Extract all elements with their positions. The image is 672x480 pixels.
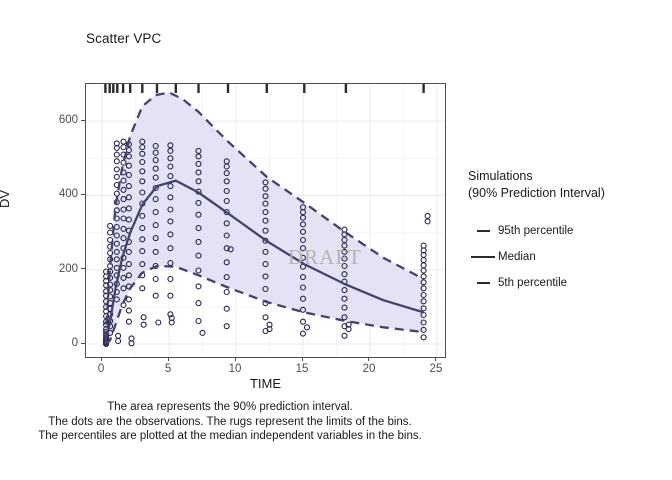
- legend-items: 95th percentileMedian5th percentile: [468, 218, 668, 296]
- page-title: Scatter VPC: [86, 31, 161, 46]
- x-tick-label: 25: [430, 363, 443, 375]
- x-tick-label: 0: [98, 363, 104, 375]
- x-tick-label: 15: [296, 363, 309, 375]
- legend-key-dash-icon: [468, 282, 498, 285]
- y-tick-mark: [81, 268, 85, 269]
- legend-title-line2: (90% Prediction Interval): [468, 185, 668, 202]
- x-axis-title: TIME: [0, 376, 531, 391]
- legend-key-solid-icon: [468, 256, 498, 259]
- x-tick-mark: [235, 357, 236, 361]
- plot-area: [86, 84, 445, 357]
- legend-item: 95th percentile: [468, 218, 668, 244]
- legend-key-dash-icon: [468, 230, 498, 233]
- caption-line-2: The dots are the observations. The rugs …: [0, 415, 460, 430]
- chart-caption: The area represents the 90% prediction i…: [0, 400, 460, 444]
- x-tick-label: 20: [363, 363, 376, 375]
- caption-line-1: The area represents the 90% prediction i…: [0, 400, 460, 415]
- y-tick-mark: [81, 343, 85, 344]
- legend-item: 5th percentile: [468, 270, 668, 296]
- legend-item: Median: [468, 244, 668, 270]
- y-tick-label: 200: [45, 263, 78, 275]
- y-axis-title: DV: [0, 190, 12, 208]
- caption-line-3: The percentiles are plotted at the media…: [0, 429, 460, 444]
- plot-panel: [85, 83, 446, 358]
- legend-item-label: Median: [498, 251, 536, 263]
- vpc-chart-page: Scatter VPC DV DRAFT 0200400600051015202…: [0, 0, 672, 480]
- legend-item-label: 95th percentile: [498, 225, 573, 237]
- legend-item-label: 5th percentile: [498, 277, 567, 289]
- x-tick-label: 5: [165, 363, 171, 375]
- legend: Simulations (90% Prediction Interval) 95…: [468, 168, 668, 296]
- legend-title: Simulations (90% Prediction Interval): [468, 168, 668, 202]
- x-tick-mark: [435, 357, 436, 361]
- x-tick-label: 10: [229, 363, 242, 375]
- chart-graphics: [86, 84, 445, 357]
- legend-title-line1: Simulations: [468, 168, 668, 185]
- y-tick-label: 0: [45, 337, 78, 349]
- y-tick-label: 600: [45, 114, 78, 126]
- x-tick-mark: [368, 357, 369, 361]
- y-tick-mark: [81, 194, 85, 195]
- y-tick-label: 400: [45, 188, 78, 200]
- x-tick-mark: [302, 357, 303, 361]
- x-tick-mark: [168, 357, 169, 361]
- x-tick-mark: [101, 357, 102, 361]
- y-tick-mark: [81, 120, 85, 121]
